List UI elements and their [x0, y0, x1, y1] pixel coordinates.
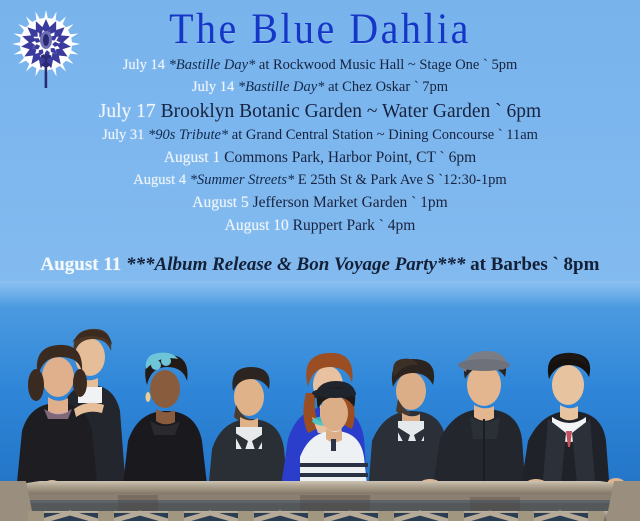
- page-title: The Blue Dahlia: [169, 4, 471, 54]
- listing-venue: Jefferson Market Garden ` 1pm: [253, 194, 448, 211]
- headline-date: August 11: [41, 254, 122, 275]
- listing-event-name: *Summer Streets*: [190, 172, 295, 188]
- listing-venue: E 25th St & Park Ave S `12:30-1pm: [298, 172, 507, 188]
- listing-date: July 17: [99, 101, 156, 122]
- list-item[interactable]: July 14 *Bastille Day* at Chez Oskar ` 7…: [0, 80, 640, 102]
- listing-venue: at Chez Oskar ` 7pm: [328, 79, 448, 95]
- photo-top-fade: [0, 281, 640, 307]
- list-item[interactable]: August 4 *Summer Streets* E 25th St & Pa…: [0, 173, 640, 195]
- listing-venue: Commons Park, Harbor Point, CT ` 6pm: [224, 149, 476, 166]
- listing-venue: Ruppert Park ` 4pm: [293, 217, 416, 234]
- list-item[interactable]: July 31 *90s Tribute* at Grand Central S…: [0, 128, 640, 150]
- headline-venue: at Barbes ` 8pm: [470, 254, 599, 275]
- band-group-photo: [0, 281, 640, 521]
- list-item[interactable]: August 1 Commons Park, Harbor Point, CT …: [0, 150, 640, 173]
- headline-event-name: ***Album Release & Bon Voyage Party***: [126, 254, 465, 275]
- poster-title-container: The Blue Dahlia: [0, 4, 640, 50]
- listing-date: August 1: [164, 149, 220, 166]
- listing-venue: at Rockwood Music Hall ~ Stage One ` 5pm: [259, 57, 517, 73]
- listing-date: August 10: [225, 217, 289, 234]
- listing-date: July 14: [123, 57, 165, 73]
- headline-event[interactable]: August 11 ***Album Release & Bon Voyage …: [0, 254, 640, 276]
- listing-date: August 4: [133, 172, 186, 188]
- listing-event-name: *Bastille Day*: [238, 79, 325, 95]
- listing-date: July 14: [192, 79, 234, 95]
- tour-date-list: July 14 *Bastille Day* at Rockwood Music…: [0, 58, 640, 241]
- list-item[interactable]: August 10 Ruppert Park ` 4pm: [0, 218, 640, 241]
- listing-event-name: *90s Tribute*: [148, 127, 228, 143]
- tour-poster: The Blue Dahlia July 14 *Bastille Day* a…: [0, 0, 640, 521]
- list-item[interactable]: August 5 Jefferson Market Garden ` 1pm: [0, 195, 640, 218]
- listing-venue: at Grand Central Station ~ Dining Concou…: [232, 127, 538, 143]
- listing-date: July 31: [102, 127, 144, 143]
- list-item[interactable]: July 14 *Bastille Day* at Rockwood Music…: [0, 58, 640, 80]
- listing-date: August 5: [192, 194, 248, 211]
- list-item[interactable]: July 17 Brooklyn Botanic Garden ~ Water …: [0, 102, 640, 128]
- listing-event-name: *Bastille Day*: [169, 57, 256, 73]
- railing-coping: [0, 481, 640, 495]
- listing-venue: Brooklyn Botanic Garden ~ Water Garden `…: [161, 101, 542, 122]
